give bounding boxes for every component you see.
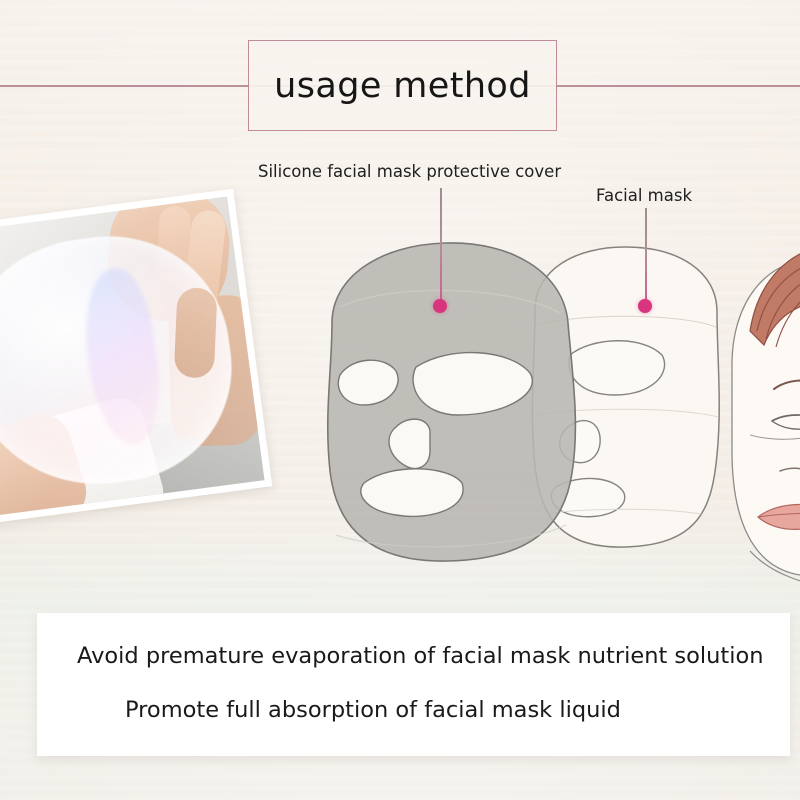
callout-marker-dot-facial-mask: [638, 299, 652, 313]
silicone-protective-mask-shape: [328, 243, 576, 561]
sheet-iridescence: [77, 265, 168, 449]
benefit-line-2: Promote full absorption of facial mask l…: [67, 697, 760, 723]
callout-leader-line-facial-mask: [645, 208, 647, 300]
callout-marker-dot-silicone: [433, 299, 447, 313]
sheet-eye-opening: [174, 287, 218, 379]
callout-label-silicone-cover: Silicone facial mask protective cover: [258, 162, 561, 181]
benefits-panel: Avoid premature evaporation of facial ma…: [37, 613, 790, 756]
usage-method-infographic: usage method Silicone facial mask protec…: [0, 0, 800, 800]
benefit-line-1: Avoid premature evaporation of facial ma…: [67, 643, 760, 669]
callout-leader-line-silicone: [440, 188, 442, 300]
mask-illustration-group: [280, 215, 800, 615]
hands-holding-silicone-mask-photo: [0, 189, 272, 526]
page-title-box: usage method: [248, 40, 557, 131]
photo-canvas: [0, 197, 264, 518]
callout-label-facial-mask: Facial mask: [596, 186, 692, 205]
woman-face-illustration: [732, 243, 800, 615]
page-title: usage method: [274, 66, 531, 106]
